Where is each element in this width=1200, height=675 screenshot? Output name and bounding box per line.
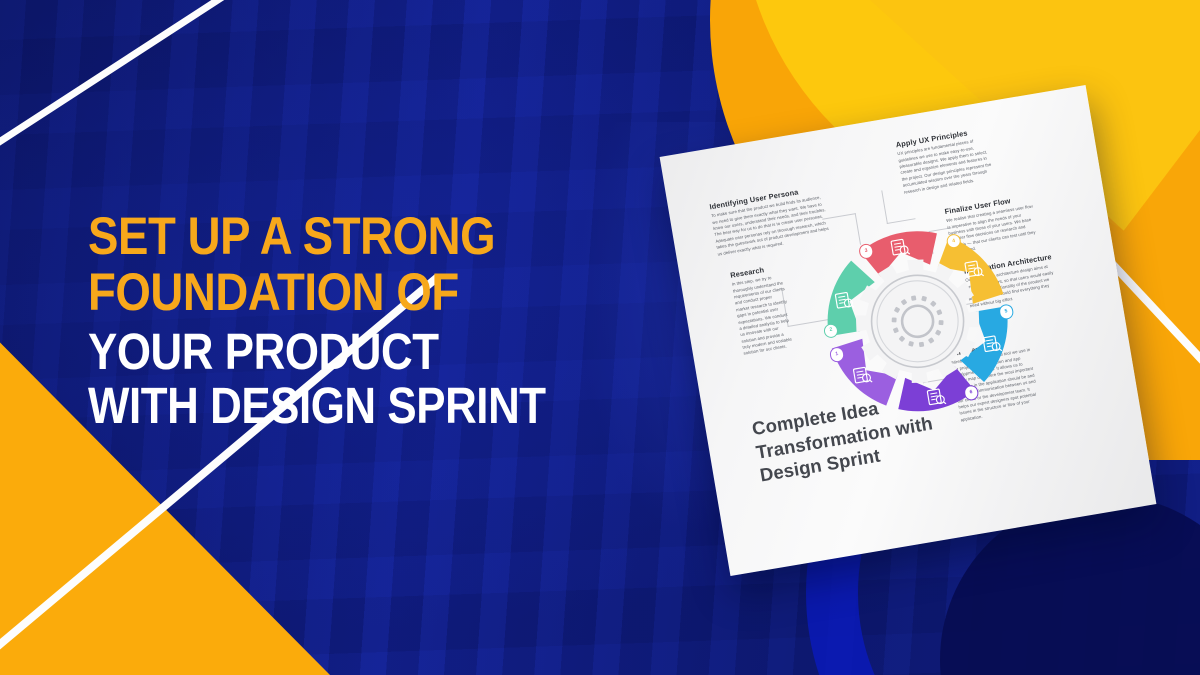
step-label-apply-ux-principles: Apply UX Principles UX principles are fu…: [895, 126, 995, 195]
infographic-card: Identifying User Persona To make sure th…: [660, 85, 1157, 576]
step-badge-number: 6: [969, 390, 973, 395]
step-badge-number: 5: [1004, 309, 1008, 314]
step-badge-number: 2: [829, 328, 833, 333]
step-badge-number: 1: [835, 352, 839, 357]
step-label-research: Research In this step, we try to thoroug…: [730, 263, 796, 357]
step-badge-number: 3: [864, 249, 868, 254]
slide-canvas: SET UP A STRONG FOUNDATION OF YOUR PRODU…: [0, 0, 1200, 675]
headline-line-2: FOUNDATION OF: [88, 268, 535, 319]
step-body-1: In this step, we try to thoroughly under…: [731, 273, 795, 357]
headline-line-1: SET UP A STRONG: [88, 212, 535, 263]
headline-line-4: WITH DESIGN SPRINT: [88, 382, 535, 431]
card-surface: Identifying User Persona To make sure th…: [660, 85, 1157, 576]
card-center-title: Complete Idea Transformation with Design…: [750, 386, 949, 488]
headline-line-3: YOUR PRODUCT: [88, 328, 535, 377]
headline-block: SET UP A STRONG FOUNDATION OF YOUR PRODU…: [88, 212, 608, 436]
step-badge-number: 4: [952, 239, 956, 244]
